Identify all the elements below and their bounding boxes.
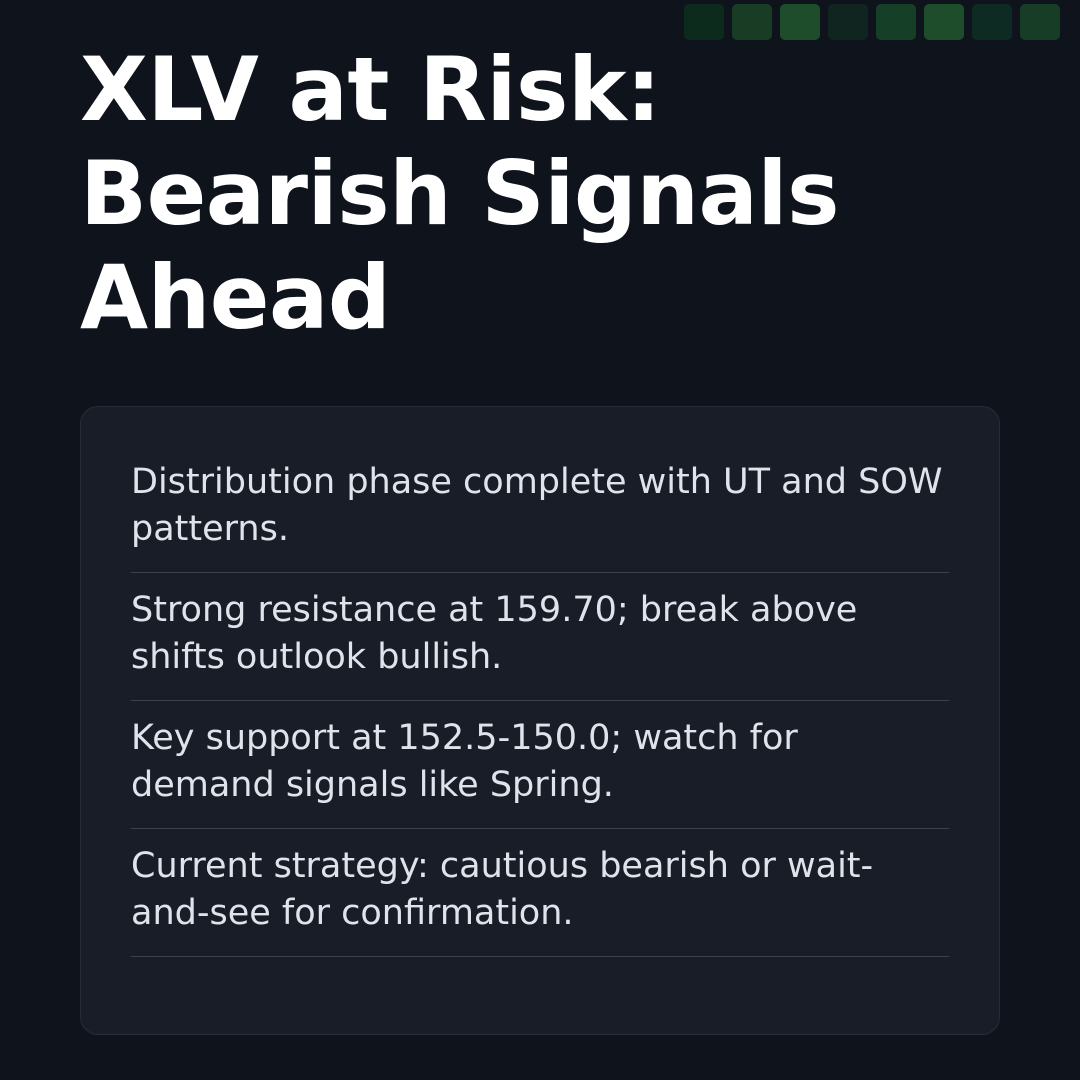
color-swatch (1020, 4, 1060, 40)
color-swatch (780, 4, 820, 40)
page-title-line: XLV at Risk: (80, 38, 661, 141)
list-item: Current strategy: cautious bearish or wa… (131, 829, 949, 957)
color-swatch (972, 4, 1012, 40)
page-title-line: Bearish Signals (80, 142, 839, 245)
color-swatch (924, 4, 964, 40)
color-swatch (876, 4, 916, 40)
color-swatch-strip (684, 4, 1060, 40)
color-swatch (684, 4, 724, 40)
insight-list: Distribution phase complete with UT and … (131, 447, 949, 957)
page-title-line: Ahead (80, 246, 390, 349)
list-item: Key support at 152.5-150.0; watch for de… (131, 701, 949, 829)
color-swatch (732, 4, 772, 40)
list-item: Strong resistance at 159.70; break above… (131, 573, 949, 701)
color-swatch (828, 4, 868, 40)
list-item: Distribution phase complete with UT and … (131, 447, 949, 573)
page-title: XLV at Risk: Bearish Signals Ahead (80, 38, 960, 349)
insights-card: Distribution phase complete with UT and … (80, 406, 1000, 1035)
